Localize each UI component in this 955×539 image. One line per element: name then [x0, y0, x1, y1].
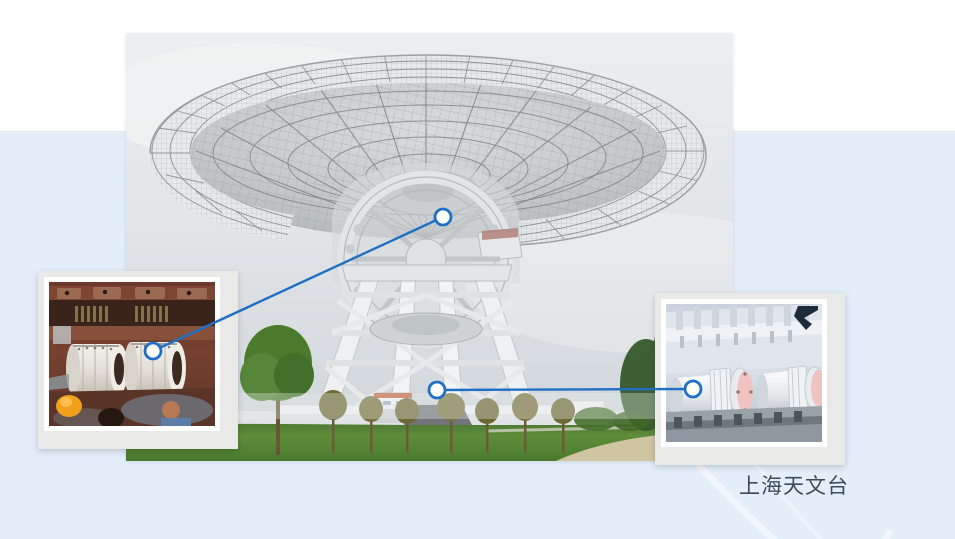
inset-right-mat: [661, 299, 827, 447]
inset-after-gearbox: [655, 293, 845, 465]
inset-left-mat: [44, 277, 220, 431]
inset-right-photo: [666, 304, 822, 442]
slide-canvas: 上海天文台: [0, 0, 955, 539]
inset-before-gearbox: [38, 271, 238, 449]
observatory-caption: 上海天文台: [739, 470, 849, 500]
inset-left-photo: [49, 282, 215, 426]
